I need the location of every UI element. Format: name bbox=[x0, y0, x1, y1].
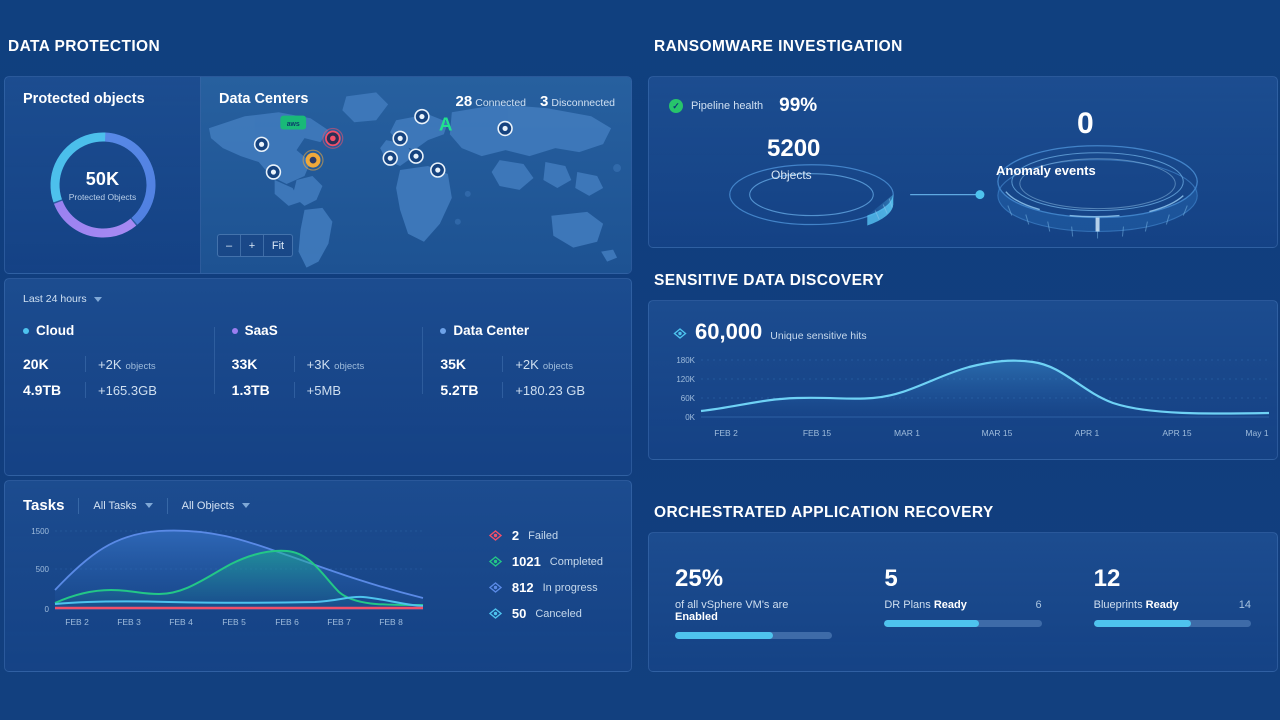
stat-group-saas: SaaS 33K +3K objects 1.3TB +5MB bbox=[214, 323, 423, 398]
recovery-text-bold: Ready bbox=[934, 599, 967, 611]
data-center-dot-icon bbox=[440, 328, 446, 334]
diamond-marker-icon bbox=[488, 608, 503, 619]
svg-text:FEB 8: FEB 8 bbox=[379, 617, 403, 627]
sensitive-hits-value: 60,000 bbox=[695, 319, 762, 345]
recovery-progress-bar bbox=[1094, 620, 1251, 627]
ransomware-visual bbox=[649, 77, 1277, 248]
legend-count: 2 bbox=[512, 528, 519, 543]
sensitive-data-title: SENSITIVE DATA DISCOVERY bbox=[654, 272, 884, 290]
size-value: 1.3TB bbox=[232, 382, 294, 398]
chevron-down-icon[interactable] bbox=[145, 503, 153, 508]
size-value: 4.9TB bbox=[23, 382, 85, 398]
recovery-title: ORCHESTRATED APPLICATION RECOVERY bbox=[654, 504, 994, 522]
svg-text:180K: 180K bbox=[676, 356, 695, 365]
svg-text:500: 500 bbox=[36, 565, 50, 574]
protected-objects-donut: 50K Protected Objects bbox=[43, 125, 163, 245]
connected-label: Connected bbox=[475, 97, 526, 109]
recovery-text-prefix: DR Plans bbox=[884, 599, 934, 611]
svg-text:APR 1: APR 1 bbox=[1075, 428, 1100, 438]
dashboard-page: DATA PROTECTION Protected objects bbox=[0, 0, 1280, 720]
donut-label: Protected Objects bbox=[69, 192, 137, 202]
svg-text:0K: 0K bbox=[685, 413, 695, 422]
zoom-fit-button[interactable]: Fit bbox=[264, 235, 292, 256]
objects-unit: objects bbox=[126, 361, 156, 372]
disconnected-count: 3 bbox=[540, 93, 548, 110]
donut-value: 50K bbox=[86, 169, 120, 190]
ransomware-card: ✓ Pipeline health 99% bbox=[648, 76, 1278, 248]
stat-group-name: SaaS bbox=[245, 323, 278, 338]
data-protection-card: Protected objects bbox=[4, 76, 632, 274]
tasks-legend: 2 Failed 1021 Completed bbox=[488, 528, 603, 621]
diamond-marker-icon bbox=[488, 556, 503, 567]
sensitive-x-axis: FEB 2 FEB 15 MAR 1 MAR 15 APR 1 APR 15 M… bbox=[714, 428, 1269, 438]
legend-item-in-progress[interactable]: 812 In progress bbox=[488, 580, 603, 595]
divider bbox=[294, 382, 295, 398]
objects-delta: +2K bbox=[98, 357, 122, 372]
recovery-item-blueprints: 12 Blueprints Ready 14 bbox=[1068, 565, 1277, 639]
size-delta: +180.23 GB bbox=[515, 383, 585, 398]
protected-objects-panel: Protected objects bbox=[5, 77, 201, 273]
disconnected-stat: 3Disconnected bbox=[540, 93, 615, 111]
objects-delta: +2K bbox=[515, 357, 539, 372]
svg-text:FEB 2: FEB 2 bbox=[714, 428, 738, 438]
left-column: DATA PROTECTION Protected objects bbox=[0, 0, 636, 694]
zoom-in-button[interactable]: + bbox=[241, 235, 264, 256]
objects-filter-label: All Objects bbox=[182, 500, 235, 512]
data-centers-title: Data Centers bbox=[219, 91, 308, 107]
protection-stats-card: Last 24 hours Cloud 20K +2K objects bbox=[4, 278, 632, 476]
divider bbox=[85, 382, 86, 398]
diamond-marker-icon bbox=[488, 530, 503, 541]
recovery-side-value: 14 bbox=[1239, 599, 1251, 611]
objects-value: 33K bbox=[232, 356, 294, 372]
stats-row: Cloud 20K +2K objects 4.9TB +165.3GB bbox=[5, 323, 631, 398]
tasks-y-axis: 1500 500 0 bbox=[31, 527, 49, 614]
diamond-marker-icon bbox=[673, 328, 687, 339]
recovery-text-bold: Ready bbox=[1146, 599, 1179, 611]
zoom-out-button[interactable]: – bbox=[218, 235, 241, 256]
recovery-text: of all vSphere VM's are Enabled bbox=[675, 599, 832, 623]
connected-stat: 28Connected bbox=[456, 93, 526, 111]
disconnected-label: Disconnected bbox=[551, 97, 615, 109]
legend-item-failed[interactable]: 2 Failed bbox=[488, 528, 603, 543]
time-range-selector[interactable]: Last 24 hours bbox=[23, 293, 631, 305]
time-range-label: Last 24 hours bbox=[23, 293, 87, 305]
objects-value: 20K bbox=[23, 356, 85, 372]
tasks-chart: 1500 500 0 bbox=[19, 520, 429, 638]
recovery-item-dr-plans: 5 DR Plans Ready 6 bbox=[858, 565, 1067, 639]
legend-label: In progress bbox=[543, 582, 598, 594]
svg-text:FEB 15: FEB 15 bbox=[803, 428, 832, 438]
right-column: RANSOMWARE INVESTIGATION ✓ Pipeline heal… bbox=[646, 0, 1280, 694]
cloud-dot-icon bbox=[23, 328, 29, 334]
svg-text:FEB 4: FEB 4 bbox=[169, 617, 193, 627]
recovery-value: 5 bbox=[884, 565, 1041, 593]
data-centers-map-panel[interactable]: Data Centers 28Connected 3Disconnected bbox=[201, 77, 631, 273]
objects-delta: +3K bbox=[307, 357, 331, 372]
legend-count: 50 bbox=[512, 606, 526, 621]
recovery-progress-bar bbox=[675, 632, 832, 639]
divider bbox=[502, 382, 503, 398]
svg-text:1500: 1500 bbox=[31, 527, 49, 536]
size-delta: +5MB bbox=[307, 383, 341, 398]
sensitive-data-chart: 180K 120K 60K 0K FEB 2 bbox=[649, 349, 1278, 444]
tasks-title: Tasks bbox=[23, 497, 78, 514]
recovery-side-value: 6 bbox=[1036, 599, 1042, 611]
svg-text:MAR 1: MAR 1 bbox=[894, 428, 920, 438]
legend-count: 1021 bbox=[512, 554, 541, 569]
sensitive-area bbox=[701, 361, 1269, 417]
sensitive-y-axis: 180K 120K 60K 0K bbox=[676, 356, 695, 422]
svg-text:60K: 60K bbox=[681, 394, 696, 403]
legend-item-completed[interactable]: 1021 Completed bbox=[488, 554, 603, 569]
recovery-text-bold: Enabled bbox=[675, 611, 718, 623]
sensitive-data-header: 60,000 Unique sensitive hits bbox=[673, 319, 1277, 345]
sensitive-data-card: 60,000 Unique sensitive hits 180K 120K 6… bbox=[648, 300, 1278, 460]
svg-text:FEB 5: FEB 5 bbox=[222, 617, 246, 627]
chevron-down-icon[interactable] bbox=[242, 503, 250, 508]
stat-group-data-center: Data Center 35K +2K objects 5.2TB +180.2… bbox=[422, 323, 631, 398]
objects-filter-dropdown[interactable]: All Objects bbox=[168, 500, 265, 512]
recovery-text-prefix: Blueprints bbox=[1094, 599, 1146, 611]
stat-group-name: Data Center bbox=[453, 323, 529, 338]
svg-text:MAR 15: MAR 15 bbox=[982, 428, 1013, 438]
objects-count: 5200 bbox=[767, 135, 820, 163]
connected-count: 28 bbox=[456, 93, 473, 110]
recovery-item-vsphere: 25% of all vSphere VM's are Enabled bbox=[649, 565, 858, 639]
recovery-text: Blueprints Ready bbox=[1094, 599, 1179, 611]
svg-text:0: 0 bbox=[45, 605, 50, 614]
protected-objects-title: Protected objects bbox=[23, 91, 200, 107]
legend-item-canceled[interactable]: 50 Canceled bbox=[488, 606, 603, 621]
tasks-card: Tasks All Tasks All Objects bbox=[4, 480, 632, 672]
objects-unit: objects bbox=[543, 361, 573, 372]
divider bbox=[85, 356, 86, 372]
tasks-x-axis: FEB 2 FEB 3 FEB 4 FEB 5 FEB 6 FEB 7 FEB … bbox=[65, 617, 403, 627]
size-value: 5.2TB bbox=[440, 382, 502, 398]
svg-text:FEB 3: FEB 3 bbox=[117, 617, 141, 627]
svg-text:FEB 6: FEB 6 bbox=[275, 617, 299, 627]
legend-label: Completed bbox=[550, 556, 603, 568]
stat-group-cloud: Cloud 20K +2K objects 4.9TB +165.3GB bbox=[5, 323, 214, 398]
legend-count: 812 bbox=[512, 580, 534, 595]
divider bbox=[294, 356, 295, 372]
tasks-header: Tasks All Tasks All Objects bbox=[23, 497, 631, 514]
stat-group-name: Cloud bbox=[36, 323, 74, 338]
recovery-value: 12 bbox=[1094, 565, 1251, 593]
anomaly-disc bbox=[998, 146, 1197, 239]
chevron-down-icon[interactable] bbox=[94, 297, 102, 302]
svg-text:120K: 120K bbox=[676, 375, 695, 384]
divider bbox=[502, 356, 503, 372]
legend-label: Failed bbox=[528, 530, 558, 542]
legend-label: Canceled bbox=[535, 608, 581, 620]
data-protection-title: DATA PROTECTION bbox=[8, 38, 636, 56]
sensitive-hits-label: Unique sensitive hits bbox=[770, 330, 866, 342]
flow-connector bbox=[910, 190, 984, 199]
ransomware-title: RANSOMWARE INVESTIGATION bbox=[654, 38, 1280, 56]
size-delta: +165.3GB bbox=[98, 383, 157, 398]
recovery-text: DR Plans Ready bbox=[884, 599, 967, 611]
objects-count-label: Objects bbox=[771, 168, 812, 182]
recovery-value: 25% bbox=[675, 565, 832, 593]
svg-text:APR 15: APR 15 bbox=[1162, 428, 1192, 438]
recovery-progress-bar bbox=[884, 620, 1041, 627]
tasks-filter-dropdown[interactable]: All Tasks bbox=[79, 500, 166, 512]
svg-text:FEB 2: FEB 2 bbox=[65, 617, 89, 627]
recovery-text-prefix: of all vSphere VM's are bbox=[675, 599, 788, 611]
recovery-card: 25% of all vSphere VM's are Enabled 5 bbox=[648, 532, 1278, 672]
svg-text:May 1: May 1 bbox=[1245, 428, 1268, 438]
map-status-counts: 28Connected 3Disconnected bbox=[456, 93, 615, 111]
diamond-marker-icon bbox=[488, 582, 503, 593]
objects-unit: objects bbox=[334, 361, 364, 372]
anomaly-count-label: Anomaly events bbox=[996, 163, 1096, 178]
svg-text:FEB 7: FEB 7 bbox=[327, 617, 351, 627]
anomaly-count: 0 bbox=[1077, 107, 1094, 141]
objects-value: 35K bbox=[440, 356, 502, 372]
map-zoom-controls[interactable]: – + Fit bbox=[217, 234, 293, 257]
saas-dot-icon bbox=[232, 328, 238, 334]
tasks-filter-label: All Tasks bbox=[93, 500, 136, 512]
